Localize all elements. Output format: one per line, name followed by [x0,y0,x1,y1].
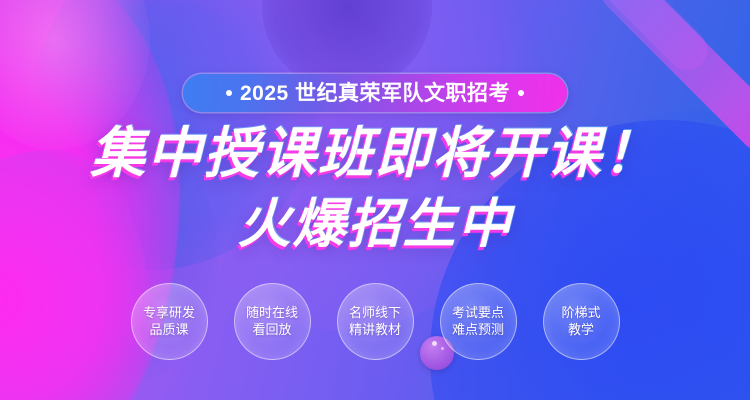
feature-circle-2-line1: 随时在线 [246,304,298,321]
feature-circle-4[interactable]: 考试要点 难点预测 [440,283,517,360]
feature-circle-1-line2: 品质课 [149,321,188,338]
feature-circle-3-line2: 精讲教材 [349,321,401,338]
bullet-dot-icon-right [518,90,524,96]
background-blob-magenta-lower [0,150,150,400]
promo-badge[interactable]: 2025 世纪真荣军队文职招考 [183,74,567,112]
feature-circle-3[interactable]: 名师线下 精讲教材 [337,283,414,360]
feature-circle-2[interactable]: 随时在线 看回放 [234,283,311,360]
promo-banner[interactable]: 2025 世纪真荣军队文职招考 集中授课班即将开课！ 火爆招生中 专享研发 品质… [0,0,750,400]
feature-circle-1-line1: 专享研发 [143,304,195,321]
bullet-dot-icon-left [226,90,232,96]
feature-list: 专享研发 品质课 随时在线 看回放 名师线下 精讲教材 考试要点 难点预测 阶梯… [0,281,750,361]
decorative-diagonal-bar-mid [525,0,716,78]
feature-circle-5-line2: 教学 [568,321,594,338]
feature-circle-1[interactable]: 专享研发 品质课 [131,283,208,360]
decorative-diagonal-bar-back [680,0,750,63]
feature-circle-5-line1: 阶梯式 [561,304,600,321]
feature-circle-4-line2: 难点预测 [452,321,504,338]
feature-circle-2-line2: 看回放 [252,321,291,338]
headline-secondary: 火爆招生中 [0,198,750,251]
feature-circle-5[interactable]: 阶梯式 教学 [543,283,620,360]
feature-circle-3-line1: 名师线下 [349,304,401,321]
promo-badge-label: 2025 世纪真荣军队文职招考 [240,83,510,104]
feature-circle-4-line1: 考试要点 [452,304,504,321]
headline-primary: 集中授课班即将开课！ [0,126,750,181]
